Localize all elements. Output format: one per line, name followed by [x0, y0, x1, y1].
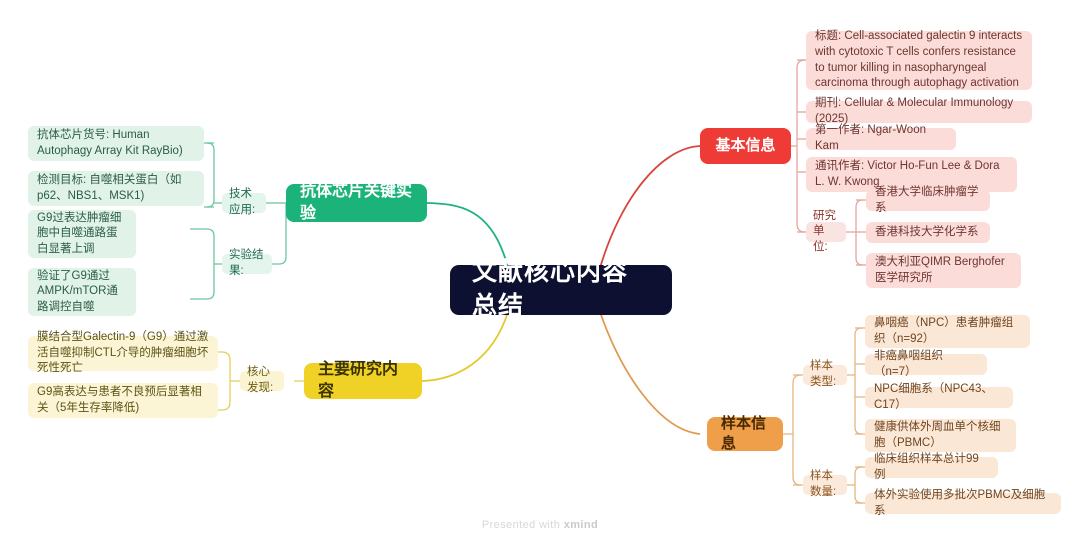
leaf-unit-1[interactable]: 香港科技大学化学系 [866, 222, 990, 243]
leaf-sample-type-3[interactable]: 健康供体外周血单个核细胞（PBMC） [865, 419, 1016, 452]
leaf-core-1-text: G9高表达与患者不良预后显著相关（5年生存率降低) [37, 385, 209, 416]
edge-basic-spine-cap-top [797, 60, 805, 68]
leaf-sample-type-2[interactable]: NPC细胞系（NPC43、C17） [865, 387, 1013, 408]
edge-snum-cap-top [855, 467, 862, 474]
leaf-sample-type-0-text: 鼻咽癌（NPC）患者肿瘤组织（n=92） [874, 316, 1021, 347]
edge-exp-cap-result [272, 257, 286, 264]
topic-sample-info-label: 样本信息 [721, 414, 769, 455]
chip-tech-application-label: 技术应用: [229, 187, 259, 218]
leaf-basic-title[interactable]: 标题: Cell-associated galectin 9 interacts… [806, 31, 1032, 90]
leaf-core-0[interactable]: 膜结合型Galectin-9（G9）通过激活自噬抑制CTL介导的肿瘤细胞坏死性死… [28, 336, 218, 371]
leaf-sample-type-1[interactable]: 非癌鼻咽组织（n=7） [865, 354, 987, 375]
leaf-sample-count-0-text: 临床组织样本总计99例 [874, 452, 989, 483]
leaf-core-1[interactable]: G9高表达与患者不良预后显著相关（5年生存率降低) [28, 383, 218, 418]
chip-tech-application[interactable]: 技术应用: [222, 193, 266, 213]
edge-root-basic-info [600, 146, 700, 268]
topic-basic-info-label: 基本信息 [715, 136, 775, 156]
leaf-sample-type-3-text: 健康供体外周血单个核细胞（PBMC） [874, 420, 1007, 451]
leaf-basic-first-author[interactable]: 第一作者: Ngar-Woon Kam [806, 128, 956, 150]
edge-sample-cap-top [793, 375, 801, 383]
edge-tech-cap-bottom [207, 200, 214, 207]
root-node-label: 文献核心内容总结 [472, 256, 650, 324]
leaf-sample-count-0[interactable]: 临床组织样本总计99例 [865, 457, 998, 478]
chip-experiment-result[interactable]: 实验结果: [222, 254, 272, 274]
topic-sample-info[interactable]: 样本信息 [707, 417, 783, 451]
edge-sample-cap-bottom [793, 477, 801, 485]
edge-basic-spine-cap-bottom [797, 224, 805, 232]
chip-research-unit[interactable]: 研究单位: [806, 222, 846, 242]
leaf-sample-count-1-text: 体外实验使用多批次PBMC及细胞系 [874, 488, 1052, 519]
chip-core-finding[interactable]: 核心发现: [240, 371, 284, 391]
leaf-tech-1-text: 检测目标: 自噬相关蛋白（如p62、NBS1、MSK1) [37, 173, 195, 204]
leaf-tech-0-text: 抗体芯片货号: Human Autophagy Array Kit RayBio… [37, 128, 195, 159]
watermark-brand: xmind [564, 519, 598, 531]
watermark: Presented with xmind [0, 519, 1080, 531]
chip-sample-count[interactable]: 样本数量: [803, 475, 847, 495]
edge-stype-cap-top [855, 328, 862, 335]
leaf-basic-first-author-text: 第一作者: Ngar-Woon Kam [815, 123, 947, 154]
topic-experiment[interactable]: 抗体芯片关键实验 [286, 184, 427, 222]
leaf-sample-count-1[interactable]: 体外实验使用多批次PBMC及细胞系 [865, 493, 1061, 514]
root-node[interactable]: 文献核心内容总结 [450, 265, 672, 315]
leaf-unit-2-text: 澳大利亚QIMR Berghofer医学研究所 [875, 255, 1012, 286]
leaf-unit-2[interactable]: 澳大利亚QIMR Berghofer医学研究所 [866, 253, 1021, 288]
leaf-basic-title-text: 标题: Cell-associated galectin 9 interacts… [815, 29, 1023, 91]
topic-basic-info[interactable]: 基本信息 [700, 128, 791, 164]
edge-stype-cap-bottom [855, 427, 862, 434]
edge-core-cap-top [218, 352, 230, 360]
leaf-unit-1-text: 香港科技大学化学系 [875, 225, 979, 241]
leaf-unit-0[interactable]: 香港大学临床肿瘤学系 [866, 190, 990, 211]
chip-research-unit-label: 研究单位: [813, 209, 839, 256]
leaf-core-0-text: 膜结合型Galectin-9（G9）通过激活自噬抑制CTL介导的肿瘤细胞坏死性死… [37, 330, 209, 377]
mindmap-canvas: 文献核心内容总结 基本信息 标题: Cell-associated galect… [0, 0, 1080, 547]
edge-root-sample-info [600, 312, 700, 434]
edge-result-cap-top [190, 229, 214, 236]
leaf-sample-type-1-text: 非癌鼻咽组织（n=7） [874, 349, 978, 380]
edge-result-cap-bottom [190, 292, 214, 299]
topic-research-content[interactable]: 主要研究内容 [304, 363, 422, 399]
edge-tech-cap-top [207, 143, 214, 150]
leaf-result-1-text: 验证了G9通过AMPK/mTOR通路调控自噬 [37, 269, 127, 316]
watermark-prefix: Presented with [482, 519, 564, 531]
leaf-result-1[interactable]: 验证了G9通过AMPK/mTOR通路调控自噬 [28, 268, 136, 316]
leaf-sample-type-2-text: NPC细胞系（NPC43、C17） [874, 382, 1004, 413]
edge-snum-cap-bottom [855, 496, 862, 503]
leaf-sample-type-0[interactable]: 鼻咽癌（NPC）患者肿瘤组织（n=92） [865, 315, 1030, 348]
leaf-unit-0-text: 香港大学临床肿瘤学系 [875, 185, 981, 216]
leaf-result-0[interactable]: G9过表达肿瘤细胞中自噬通路蛋白显著上调 [28, 210, 136, 258]
chip-sample-count-label: 样本数量: [810, 469, 840, 500]
chip-sample-type[interactable]: 样本类型: [803, 365, 847, 385]
leaf-tech-1[interactable]: 检测目标: 自噬相关蛋白（如p62、NBS1、MSK1) [28, 171, 204, 206]
chip-core-finding-label: 核心发现: [247, 365, 277, 396]
edge-unit-cap-top [856, 200, 863, 207]
edge-unit-cap-bottom [856, 258, 863, 265]
leaf-tech-0[interactable]: 抗体芯片货号: Human Autophagy Array Kit RayBio… [28, 126, 204, 161]
topic-research-content-label: 主要研究内容 [318, 359, 408, 402]
edge-core-cap-bottom [218, 402, 230, 410]
leaf-basic-journal[interactable]: 期刊: Cellular & Molecular Immunology (202… [806, 101, 1032, 123]
chip-sample-type-label: 样本类型: [810, 359, 840, 390]
topic-experiment-label: 抗体芯片关键实验 [300, 181, 413, 224]
chip-experiment-result-label: 实验结果: [229, 248, 265, 279]
leaf-result-0-text: G9过表达肿瘤细胞中自噬通路蛋白显著上调 [37, 211, 127, 258]
